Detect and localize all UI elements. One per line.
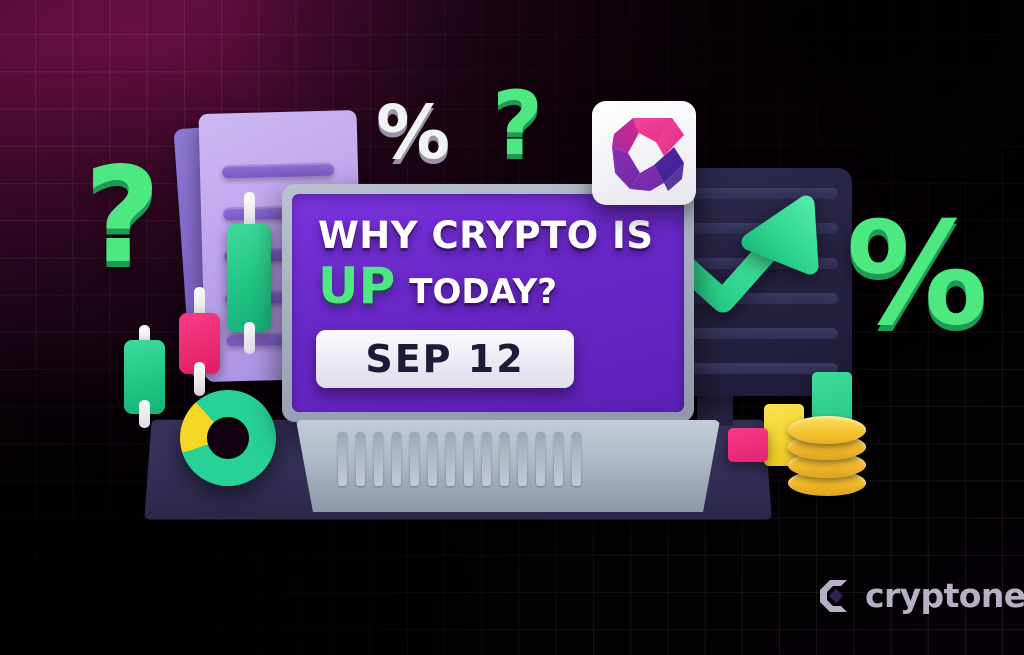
candle-wick [139,400,150,428]
laptop-key[interactable] [356,432,365,486]
laptop-key-row [338,432,581,486]
donut-chart [180,390,276,486]
question-mark-top-icon: ? [492,80,543,168]
cryptonews-logo-tile [592,101,696,205]
bar-pink [728,428,768,462]
banner-canvas: WHY CRYPTO IS UP TODAY? SEP 12 [0,0,1024,655]
cryptonews-logo-mark-icon [592,101,696,205]
laptop-key[interactable] [410,432,419,486]
candle-wick [244,322,255,354]
laptop-key[interactable] [554,432,563,486]
laptop-key[interactable] [428,432,437,486]
headline-highlight: UP [318,257,395,315]
coin-top [788,416,866,444]
laptop-key[interactable] [446,432,455,486]
candle-wick [194,362,205,396]
percent-symbol-icon: % [376,96,450,170]
laptop-key[interactable] [536,432,545,486]
laptop-key[interactable] [464,432,473,486]
candle-body-up [227,224,271,332]
laptop-key[interactable] [338,432,347,486]
date-badge: SEP 12 [316,330,574,388]
headline-line-1: WHY CRYPTO IS [318,214,653,257]
watermark: cryptonews [818,576,1024,615]
headline-rest: TODAY? [409,272,557,312]
laptop-key[interactable] [392,432,401,486]
laptop-key[interactable] [374,432,383,486]
laptop-key[interactable] [518,432,527,486]
laptop-key[interactable] [572,432,581,486]
question-mark-right-icon: % [846,204,988,346]
cryptonews-watermark-mark-icon [818,578,854,614]
headline-line-2: UP TODAY? [318,257,557,315]
laptop-key[interactable] [500,432,509,486]
laptop-key[interactable] [482,432,491,486]
watermark-text: cryptonews [865,576,1024,615]
date-badge-label: SEP 12 [365,337,524,381]
question-mark-left-icon: ? [84,150,161,282]
document-line [222,163,334,179]
